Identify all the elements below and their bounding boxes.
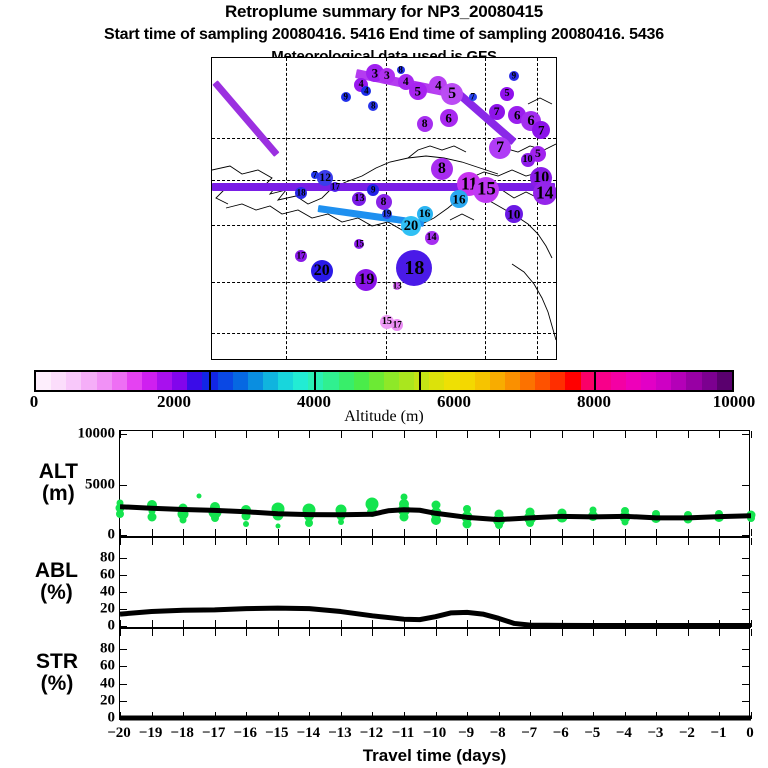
panel-str: STR(%)020406080 — [119, 628, 750, 720]
bubble-day-label: 7 — [496, 140, 504, 156]
colorbar-band-42 — [671, 372, 686, 390]
bubble-day-label: 10 — [507, 207, 520, 220]
x-tick-label: −4 — [616, 725, 632, 742]
colorbar-band-31 — [505, 372, 520, 390]
x-tick-label: −3 — [647, 725, 663, 742]
x-tick-label: −1 — [710, 725, 726, 742]
sampling-time-subtitle: Start time of sampling 20080416. 5416 En… — [0, 26, 768, 44]
x-tick-label: −5 — [584, 725, 600, 742]
bubble-day-label: 8 — [371, 102, 376, 111]
bubble-day-label: 7 — [313, 171, 318, 180]
colorbar-band-28 — [460, 372, 475, 390]
y-tick-label: 5000 — [85, 476, 115, 493]
colorbar-band-19 — [323, 372, 338, 390]
y-tick-label: 10000 — [78, 426, 116, 443]
bubble-day-label: 14 — [536, 184, 553, 201]
x-tick-label: −2 — [679, 725, 695, 742]
bubble-day-label: 6 — [445, 111, 452, 124]
colorbar-title: Altitude (m) — [0, 408, 768, 426]
bubble-day-label: 3 — [384, 70, 390, 82]
bubble-day-label: 8 — [438, 161, 446, 177]
y-tick-label: 40 — [100, 675, 115, 692]
colorbar-band-32 — [520, 372, 535, 390]
colorbar-band-9 — [172, 372, 187, 390]
bubble-day-label: 20 — [314, 263, 330, 279]
bubble-day-label: 14 — [426, 233, 436, 243]
x-tick-label: −7 — [521, 725, 537, 742]
page-title: Retroplume summary for NP3_20080415 — [0, 2, 768, 22]
row-label-alt: ALT(m) — [39, 461, 78, 505]
bubble-day-label: 5 — [535, 148, 541, 160]
colorbar-separator-1 — [314, 370, 316, 392]
mean-line-str — [120, 629, 751, 721]
mean-line-alt — [120, 431, 751, 538]
x-tick-label: −11 — [392, 725, 415, 742]
bubble-day-label: 16 — [419, 208, 431, 220]
colorbar-band-3 — [81, 372, 96, 390]
colorbar-band-24 — [399, 372, 414, 390]
bubble-day-label: 5 — [448, 86, 456, 102]
colorbar-band-45 — [717, 372, 732, 390]
x-tick-label: −9 — [458, 725, 474, 742]
colorbar-band-29 — [475, 372, 490, 390]
x-tick-label: −10 — [423, 725, 447, 742]
colorbar-band-14 — [248, 372, 263, 390]
colorbar-band-7 — [142, 372, 157, 390]
colorbar-band-22 — [369, 372, 384, 390]
colorbar-band-44 — [702, 372, 717, 390]
x-tick-label: −19 — [139, 725, 163, 742]
colorbar-band-20 — [339, 372, 354, 390]
panel-abl: ABL(%)020406080 — [119, 537, 750, 628]
bubble-day-label: 9 — [512, 72, 517, 81]
bubble-day-label: 13 — [393, 282, 402, 291]
timeseries-panels: ALT(m)0500010000 ABL(%)020406080 STR(%)0… — [119, 430, 750, 720]
bubble-day-label: 20 — [404, 219, 419, 234]
x-tick-label: 0 — [746, 725, 754, 742]
colorbar-band-27 — [444, 372, 459, 390]
x-tick-label: −16 — [233, 725, 257, 742]
x-tick-top — [751, 538, 752, 545]
bubble-day-label: 19 — [382, 210, 391, 219]
x-axis-title: Travel time (days) — [119, 746, 750, 766]
colorbar-band-17 — [293, 372, 308, 390]
bubble-day-label: 17 — [331, 183, 340, 192]
colorbar-band-37 — [596, 372, 611, 390]
colorbar-band-5 — [112, 372, 127, 390]
x-tick-label: −18 — [170, 725, 194, 742]
bubble-day-label: 7 — [538, 123, 545, 136]
x-tick-label: −8 — [490, 725, 506, 742]
bubble-day-label: 17 — [297, 252, 306, 261]
bubble-day-label: 10 — [522, 155, 532, 165]
colorbar-band-0 — [36, 372, 51, 390]
row-label-line2: (m) — [39, 483, 78, 505]
y-tick-label: 20 — [100, 692, 115, 709]
x-tick-label: −17 — [202, 725, 226, 742]
colorbar-band-30 — [490, 372, 505, 390]
x-tick-top — [751, 629, 752, 636]
bubble-day-label: 17 — [393, 321, 402, 330]
bubble-day-label: 8 — [398, 66, 403, 75]
x-tick-top — [751, 431, 752, 438]
bubble-day-label: 4 — [364, 87, 369, 96]
colorbar-band-41 — [656, 372, 671, 390]
colorbar-band-39 — [626, 372, 641, 390]
colorbar-band-15 — [263, 372, 278, 390]
x-tick-bottom — [751, 529, 752, 536]
x-axis-tick-labels: −20−19−18−17−16−15−14−13−12−11−10−9−8−7−… — [119, 725, 750, 743]
y-tick-label: 0 — [108, 618, 116, 635]
colorbar-band-35 — [565, 372, 580, 390]
colorbar-band-2 — [66, 372, 81, 390]
colorbar-band-4 — [97, 372, 112, 390]
x-tick-label: −15 — [265, 725, 289, 742]
colorbar-band-8 — [157, 372, 172, 390]
row-label-abl: ABL(%) — [35, 560, 78, 604]
x-tick-label: −6 — [553, 725, 569, 742]
y-tick-label: 0 — [108, 527, 116, 544]
bubble-day-label: 8 — [422, 118, 428, 130]
bubble-day-label: 7 — [494, 106, 500, 118]
colorbar-separator-2 — [419, 370, 421, 392]
colorbar-separator-0 — [209, 370, 211, 392]
y-tick-label: 40 — [100, 584, 115, 601]
colorbar-band-33 — [535, 372, 550, 390]
row-label-line1: ALT — [39, 461, 78, 483]
altitude-colorbar — [34, 370, 734, 392]
row-label-line2: (%) — [36, 673, 78, 695]
colorbar-band-26 — [429, 372, 444, 390]
x-tick-bottom — [751, 712, 752, 719]
row-label-line1: STR — [36, 651, 78, 673]
bubble-day-label: 6 — [514, 108, 521, 121]
mean-line-abl — [120, 538, 751, 629]
colorbar-band-43 — [686, 372, 701, 390]
y-tick-label: 60 — [100, 658, 115, 675]
colorbar-band-34 — [550, 372, 565, 390]
y-tick-label: 60 — [100, 567, 115, 584]
panel-alt: ALT(m)0500010000 — [119, 430, 750, 537]
y-tick-label: 80 — [100, 641, 115, 658]
bubble-day-label: 3 — [372, 66, 379, 79]
colorbar-band-21 — [354, 372, 369, 390]
colorbar-band-38 — [611, 372, 626, 390]
y-tick-label: 20 — [100, 601, 115, 618]
bubble-day-label: 4 — [403, 76, 409, 88]
bubble-day-label: 19 — [358, 272, 374, 288]
bubble-day-label: 12 — [319, 172, 331, 184]
x-tick-label: −13 — [328, 725, 352, 742]
bubble-day-label: 5 — [415, 84, 422, 97]
colorbar-band-40 — [641, 372, 656, 390]
colorbar-band-1 — [51, 372, 66, 390]
y-tick-label: 0 — [108, 710, 116, 727]
bubble-day-label: 13 — [354, 194, 364, 204]
y-tick-label: 80 — [100, 550, 115, 567]
bubble-day-label: 5 — [504, 89, 509, 99]
x-tick-label: −20 — [107, 725, 131, 742]
bubble-day-label: 9 — [344, 93, 349, 102]
bubble-day-label: 7 — [470, 93, 475, 102]
colorbar-band-12 — [218, 372, 233, 390]
colorbar-band-6 — [127, 372, 142, 390]
retroplume-map: 3344455567667758111516101410162012138918… — [211, 57, 557, 360]
row-label-line2: (%) — [35, 582, 78, 604]
bubble-day-label: 15 — [477, 181, 496, 200]
x-tick-label: −12 — [360, 725, 384, 742]
row-label-str: STR(%) — [36, 651, 78, 695]
row-label-line1: ABL — [35, 560, 78, 582]
x-tick-bottom — [751, 620, 752, 627]
bubble-day-label: 18 — [297, 189, 306, 198]
bubble-day-label: 8 — [381, 196, 387, 208]
bubble-day-label: 9 — [371, 186, 376, 195]
colorbar-band-13 — [233, 372, 248, 390]
colorbar-band-25 — [414, 372, 429, 390]
bubble-day-label: 16 — [452, 192, 465, 205]
bubble-day-label: 15 — [355, 240, 364, 249]
x-tick-label: −14 — [297, 725, 321, 742]
trajectory-purple-horizontal — [212, 183, 555, 191]
colorbar-separator-3 — [594, 370, 596, 392]
bubble-day-label: 18 — [404, 258, 424, 278]
colorbar-band-10 — [187, 372, 202, 390]
colorbar-band-23 — [384, 372, 399, 390]
colorbar-band-16 — [278, 372, 293, 390]
